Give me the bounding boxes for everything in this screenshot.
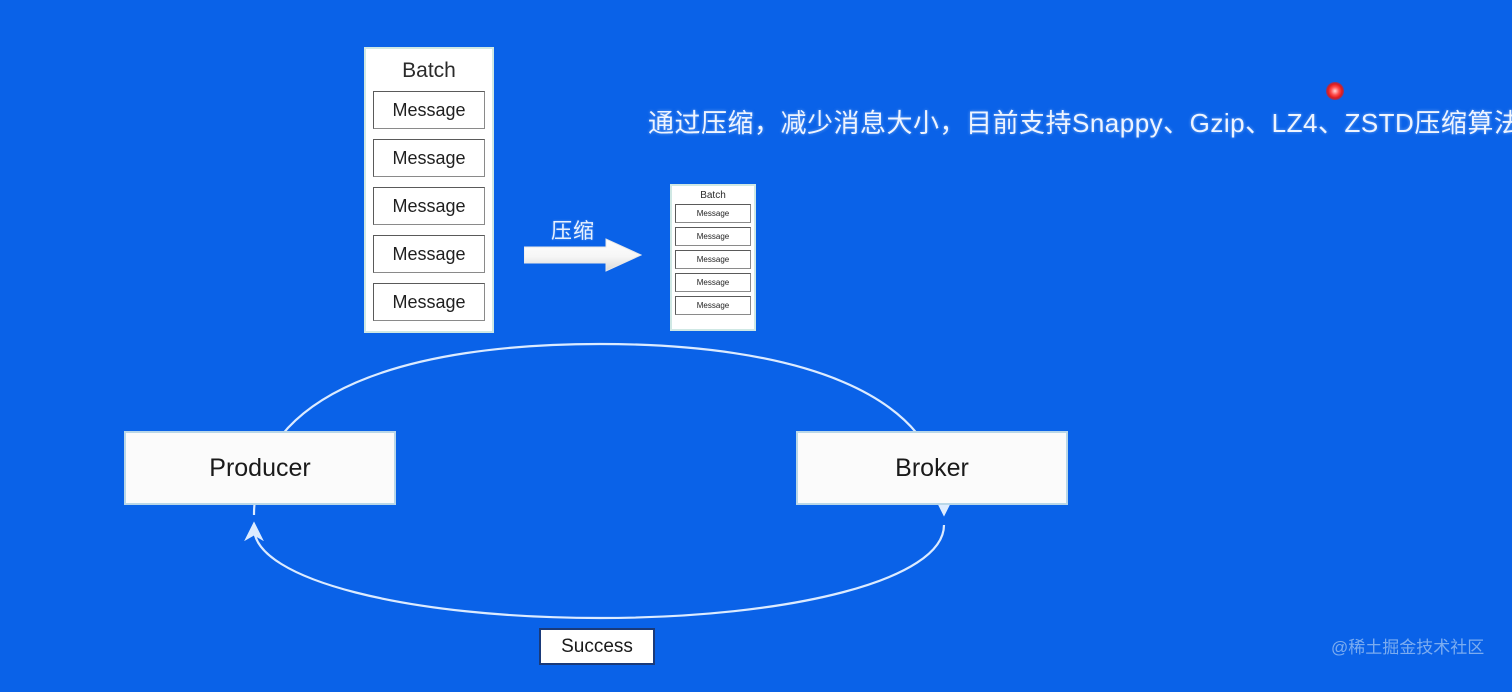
message-box: Message <box>675 204 751 223</box>
right-block-arrow-icon <box>524 238 642 272</box>
message-box: Message <box>675 296 751 315</box>
message-box: Message <box>675 273 751 292</box>
message-box: Message <box>675 227 751 246</box>
message-box: Message <box>373 139 485 177</box>
batch-title: Batch <box>402 60 456 82</box>
batch-box-uncompressed: Batch Message Message Message Message Me… <box>364 47 494 333</box>
red-dot-cursor-icon <box>1326 82 1344 100</box>
message-box: Message <box>373 235 485 273</box>
status-badge-success: Success <box>539 628 655 665</box>
diagram-canvas: 通过压缩，减少消息大小，目前支持Snappy、Gzip、LZ4、ZSTD压缩算法… <box>0 0 1512 692</box>
batch-box-compressed: Batch Message Message Message Message Me… <box>670 184 756 331</box>
message-box: Message <box>373 283 485 321</box>
node-broker: Broker <box>796 431 1068 505</box>
message-box: Message <box>373 187 485 225</box>
batch-title: Batch <box>700 190 726 201</box>
message-box: Message <box>675 250 751 269</box>
node-producer: Producer <box>124 431 396 505</box>
caption-text: 通过压缩，减少消息大小，目前支持Snappy、Gzip、LZ4、ZSTD压缩算法 <box>648 103 1512 140</box>
message-box: Message <box>373 91 485 129</box>
curved-arrow-left-icon <box>254 525 944 618</box>
watermark-text: @稀土掘金技术社区 <box>1331 633 1484 658</box>
